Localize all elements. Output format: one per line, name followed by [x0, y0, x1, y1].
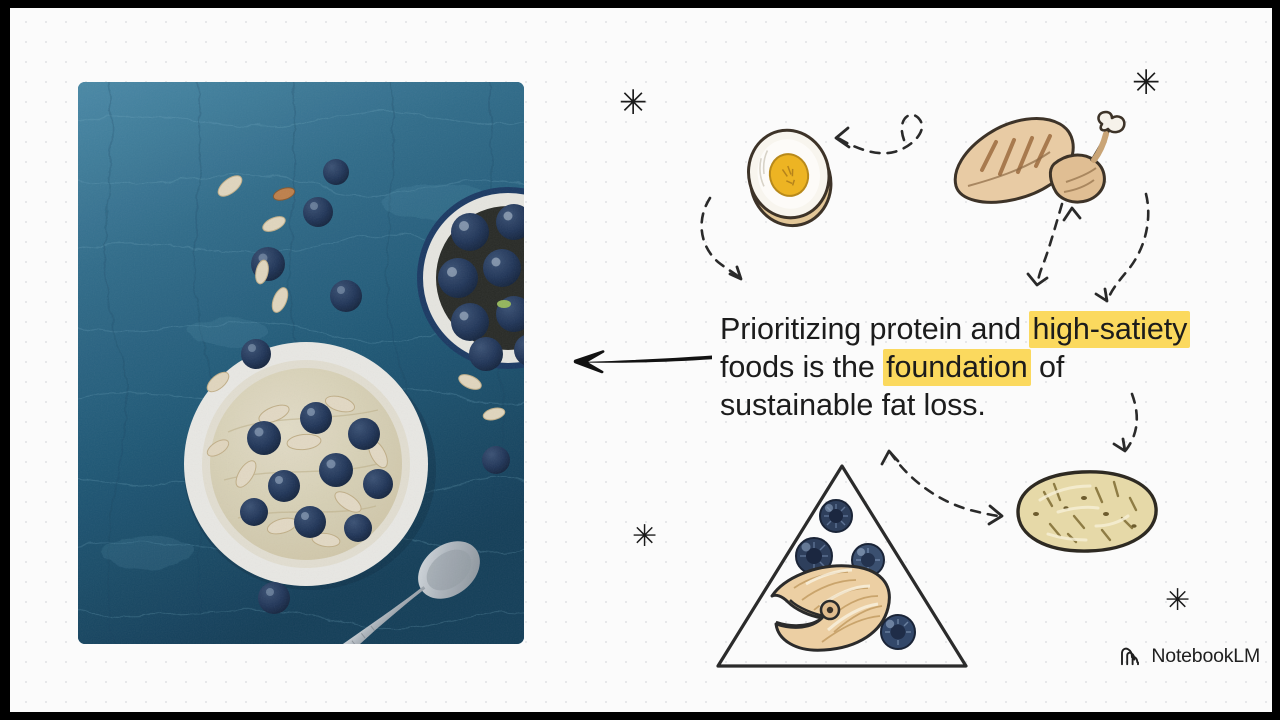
notebooklm-brand: NotebookLM	[1119, 645, 1260, 668]
brand-name: NotebookLM	[1151, 645, 1260, 668]
slide-stage: Prioritizing protein and high-satiety fo…	[0, 0, 1280, 720]
sparkle-icon: ✳	[1132, 66, 1161, 100]
sparkle-icon: ✳	[1165, 586, 1190, 616]
notebooklm-spiral-icon	[1119, 646, 1142, 667]
sparkle-icon: ✳	[619, 86, 648, 120]
sparkle-icon: ✳	[632, 522, 657, 552]
slide-canvas: Prioritizing protein and high-satiety fo…	[10, 8, 1272, 712]
